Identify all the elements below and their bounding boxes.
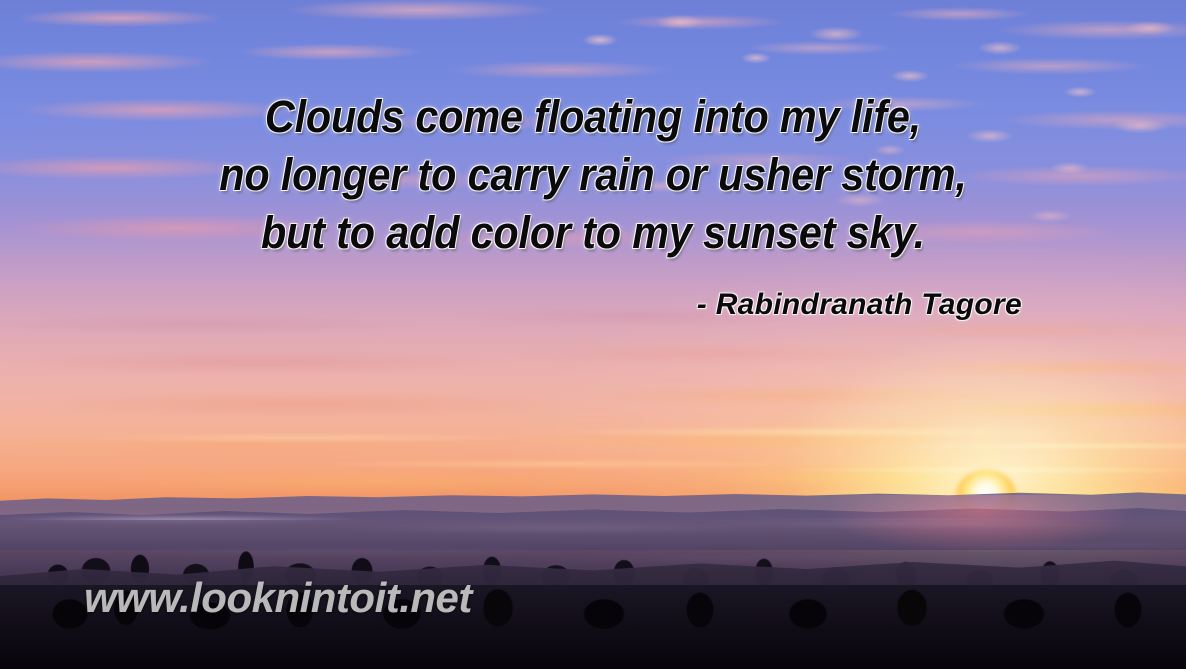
tree-silhouettes-foreground bbox=[0, 588, 1186, 648]
quote-image-canvas: Clouds come floating into my life, no lo… bbox=[0, 0, 1186, 669]
